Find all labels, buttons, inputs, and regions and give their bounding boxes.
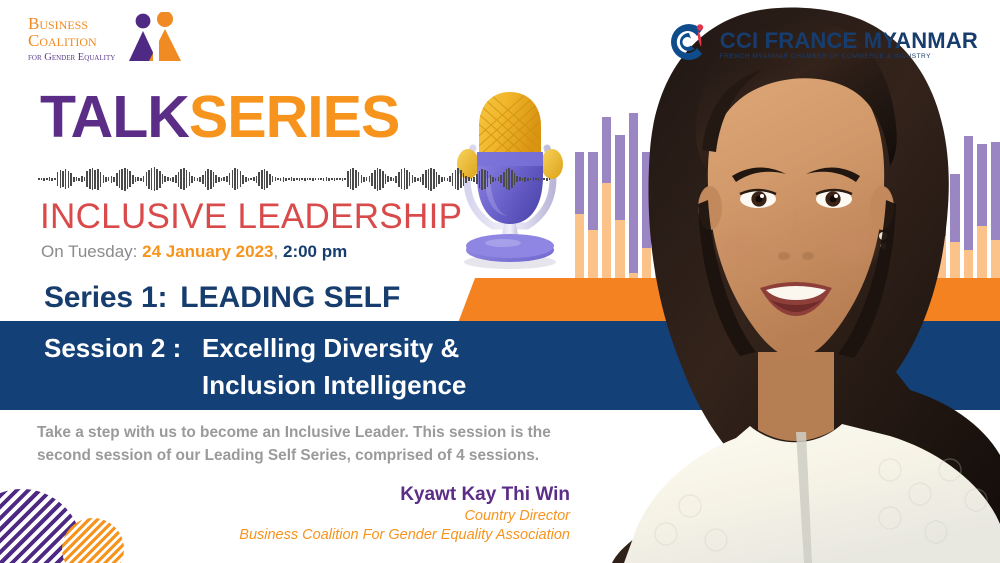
waveform-bar — [299, 178, 301, 181]
waveform-bar — [535, 178, 537, 180]
cci-france-myanmar-logo: CCI FRANCE MYANMAR FRENCH MYANMAR CHAMBE… — [667, 22, 978, 67]
waveform-bar — [223, 177, 225, 181]
waveform-bar — [100, 172, 102, 187]
waveform-bar — [538, 178, 540, 181]
waveform-bar — [366, 177, 368, 181]
waveform-bar — [377, 168, 379, 191]
waveform-bar — [301, 178, 303, 180]
audio-waveform-icon — [38, 163, 434, 195]
waveform-bar — [382, 171, 384, 188]
waveform-bar — [111, 176, 113, 183]
session-label: Session 2 : — [44, 330, 202, 367]
speaker-portrait-photo — [590, 0, 1000, 563]
waveform-bar — [54, 178, 56, 180]
waveform-bar — [62, 171, 64, 187]
waveform-bar — [524, 177, 526, 182]
waveform-bar — [385, 174, 387, 184]
waveform-bar — [304, 178, 306, 181]
waveform-bar — [355, 170, 357, 188]
waveform-bar — [78, 178, 80, 181]
waveform-bar — [119, 170, 121, 188]
waveform-bar — [334, 178, 336, 181]
waveform-bar — [320, 178, 322, 180]
waveform-bar — [57, 172, 59, 186]
waveform-bar — [132, 175, 134, 184]
waveform-bar — [455, 170, 457, 189]
waveform-bar — [234, 168, 236, 190]
waveform-bar — [121, 169, 123, 190]
waveform-bar — [164, 176, 166, 182]
title-series: SERIES — [189, 84, 399, 150]
waveform-bar — [277, 178, 279, 180]
speaker-name: Kyawt Kay Thi Win — [150, 483, 570, 507]
waveform-bar — [546, 178, 548, 181]
waveform-bar — [250, 178, 252, 180]
waveform-bar — [441, 177, 443, 182]
waveform-bar — [226, 176, 228, 182]
waveform-bar — [530, 178, 532, 180]
waveform-bar — [541, 178, 543, 180]
speaker-role: Country Director — [150, 507, 570, 526]
waveform-bar — [309, 178, 311, 180]
waveform-bar — [465, 176, 467, 183]
waveform-bar — [425, 170, 427, 188]
waveform-bar — [444, 177, 446, 181]
waveform-bar — [140, 178, 142, 181]
waveform-bar — [105, 177, 107, 182]
waveform-bar — [288, 178, 290, 180]
waveform-bar — [511, 170, 513, 188]
waveform-bar — [533, 177, 535, 181]
session-title-line1: Excelling Diversity & — [202, 333, 459, 363]
waveform-bar — [417, 178, 419, 181]
cci-logo-text: CCI FRANCE MYANMAR FRENCH MYANMAR CHAMBE… — [720, 29, 978, 61]
waveform-bar — [406, 170, 408, 189]
waveform-bar — [476, 174, 478, 184]
waveform-bar — [86, 171, 88, 187]
waveform-bar — [199, 177, 201, 182]
waveform-bar — [154, 167, 156, 191]
waveform-bar — [49, 177, 51, 181]
waveform-bar — [404, 168, 406, 190]
waveform-bar — [116, 173, 118, 186]
waveform-bar — [84, 177, 86, 181]
waveform-bar — [94, 170, 96, 189]
waveform-bar — [414, 177, 416, 182]
waveform-bar — [248, 178, 250, 181]
waveform-bar — [240, 171, 242, 187]
waveform-bar — [245, 177, 247, 182]
waveform-bar — [46, 178, 48, 180]
waveform-bar — [137, 177, 139, 181]
waveform-bar — [412, 175, 414, 183]
waveform-bar — [65, 169, 67, 189]
waveform-bar — [490, 175, 492, 184]
waveform-bar — [159, 171, 161, 188]
subtitle: INCLUSIVE LEADERSHIP — [40, 196, 462, 238]
waveform-bar — [189, 172, 191, 186]
waveform-bar — [363, 177, 365, 182]
waveform-bar — [401, 169, 403, 189]
waveform-bar — [213, 172, 215, 187]
waveform-bar — [170, 178, 172, 181]
waveform-bar — [323, 178, 325, 181]
waveform-bar — [285, 178, 287, 181]
waveform-bar — [178, 172, 180, 187]
waveform-bar — [205, 171, 207, 187]
waveform-bar — [350, 169, 352, 189]
waveform-bar — [237, 169, 239, 189]
waveform-bar — [291, 177, 293, 181]
cci-logo-sub-text: FRENCH MYANMAR CHAMBER OF COMMERCE & IND… — [720, 52, 978, 61]
waveform-bar — [387, 176, 389, 182]
page-title: TALKSERIES — [40, 88, 399, 147]
waveform-bar — [269, 174, 271, 185]
waveform-bar — [374, 170, 376, 189]
cci-logo-main-text: CCI FRANCE MYANMAR — [720, 29, 978, 52]
waveform-bar — [73, 177, 75, 182]
waveform-bar — [484, 170, 486, 189]
waveform-bar — [215, 175, 217, 183]
waveform-bar — [395, 176, 397, 183]
waveform-bar — [175, 175, 177, 183]
waveform-bar — [503, 172, 505, 187]
waveform-bar — [328, 178, 330, 181]
waveform-bar — [428, 169, 430, 190]
waveform-bar — [253, 177, 255, 181]
waveform-bar — [296, 178, 298, 180]
waveform-bar — [452, 173, 454, 186]
series-heading: Series 1:LEADING SELF — [44, 279, 400, 317]
waveform-bar — [527, 178, 529, 181]
waveform-bar — [51, 178, 53, 181]
waveform-bar — [393, 178, 395, 181]
waveform-bar — [449, 176, 451, 182]
waveform-bar — [229, 173, 231, 185]
waveform-bar — [342, 178, 344, 181]
waveform-bar — [68, 171, 70, 188]
waveform-bar — [264, 169, 266, 190]
waveform-bar — [347, 171, 349, 187]
speaker-credit: Kyawt Kay Thi Win Country Director Busin… — [150, 483, 570, 545]
session-description: Take a step with us to become an Inclusi… — [37, 421, 597, 467]
datetime-prefix: On Tuesday: — [41, 242, 137, 261]
waveform-bar — [207, 169, 209, 190]
waveform-bar — [495, 178, 497, 181]
waveform-bar — [339, 178, 341, 180]
waveform-bar — [232, 170, 234, 188]
datetime-time: 2:00 pm — [283, 242, 347, 261]
waveform-bar — [436, 172, 438, 187]
waveform-bar — [180, 169, 182, 189]
waveform-bar — [522, 178, 524, 181]
waveform-bar — [409, 172, 411, 186]
waveform-bar — [471, 178, 473, 181]
waveform-bar — [326, 177, 328, 181]
waveform-bar — [293, 178, 295, 181]
event-datetime: On Tuesday: 24 January 2023, 2:00 pm — [41, 241, 347, 263]
waveform-bar — [191, 176, 193, 183]
waveform-bar — [103, 175, 105, 183]
waveform-bar — [156, 169, 158, 190]
waveform-bar — [468, 177, 470, 181]
waveform-bar — [258, 172, 260, 186]
session-title: Excelling Diversity &Inclusion Intellige… — [202, 330, 466, 404]
waveform-bar — [151, 168, 153, 190]
waveform-bar — [183, 168, 185, 190]
waveform-bar — [221, 178, 223, 181]
session-title-line2: Inclusion Intelligence — [202, 367, 466, 404]
waveform-bar — [202, 175, 204, 184]
waveform-bar — [506, 169, 508, 189]
datetime-separator: , — [274, 242, 279, 261]
waveform-bar — [463, 173, 465, 186]
waveform-bar — [113, 177, 115, 182]
waveform-bar — [307, 178, 309, 180]
waveform-bar — [369, 176, 371, 182]
talk-series-poster: Business Coalition for Gender Equality — [0, 0, 1000, 563]
waveform-bar — [41, 178, 43, 180]
waveform-bar — [43, 178, 45, 181]
waveform-bar — [272, 176, 274, 182]
series-label: Series 1: — [44, 281, 167, 314]
waveform-bar — [479, 171, 481, 188]
waveform-bar — [143, 176, 145, 182]
waveform-bar — [420, 177, 422, 182]
waveform-bar — [108, 177, 110, 181]
waveform-bar — [256, 176, 258, 183]
cci-monogram-icon — [667, 22, 711, 67]
series-title: LEADING SELF — [180, 281, 400, 314]
waveform-bar — [97, 169, 99, 190]
datetime-date: 24 January 2023 — [142, 242, 273, 261]
business-coalition-logo: Business Coalition for Gender Equality — [28, 12, 188, 70]
waveform-bar — [318, 178, 320, 180]
waveform-bar — [127, 169, 129, 189]
waveform-bar — [76, 177, 78, 181]
waveform-bar — [549, 178, 551, 180]
waveform-bar — [430, 168, 432, 191]
waveform-bar — [447, 178, 449, 181]
waveform-bar — [500, 175, 502, 183]
waveform-bar — [438, 175, 440, 184]
waveform-bar — [172, 177, 174, 182]
waveform-bar — [433, 169, 435, 189]
waveform-bar — [280, 178, 282, 181]
waveform-bar — [60, 170, 62, 188]
waveform-bar — [38, 178, 40, 180]
title-talk: TALK — [40, 84, 189, 150]
waveform-bar — [194, 177, 196, 181]
waveform-bar — [218, 177, 220, 182]
waveform-bar — [492, 177, 494, 182]
waveform-bar — [283, 177, 285, 182]
waveform-bar — [361, 175, 363, 183]
waveform-bar — [516, 176, 518, 182]
waveform-bar — [210, 170, 212, 189]
waveform-bar — [481, 169, 483, 190]
waveform-bar — [487, 171, 489, 187]
waveform-bar — [148, 170, 150, 189]
waveform-bar — [519, 177, 521, 181]
waveform-bar — [89, 169, 91, 189]
waveform-bar — [398, 172, 400, 187]
waveform-bar — [186, 170, 188, 188]
session-heading: Session 2 :Excelling Diversity &Inclusio… — [44, 330, 466, 404]
waveform-bar — [508, 168, 510, 190]
waveform-bar — [92, 168, 94, 190]
waveform-bar — [422, 174, 424, 185]
waveform-bar — [514, 173, 516, 185]
waveform-bar — [336, 178, 338, 180]
waveform-bar — [543, 178, 545, 180]
waveform-bar — [312, 178, 314, 181]
waveform-bar — [371, 173, 373, 186]
waveform-bar — [146, 172, 148, 186]
waveform-bar — [266, 171, 268, 188]
waveform-bar — [344, 178, 346, 180]
waveform-bar — [197, 178, 199, 181]
waveform-bar — [162, 174, 164, 184]
speaker-organization: Business Coalition For Gender Equality A… — [150, 526, 570, 545]
waveform-bar — [358, 172, 360, 186]
waveform-bar — [352, 168, 354, 190]
waveform-bar — [315, 178, 317, 180]
waveform-bar — [498, 177, 500, 181]
waveform-bar — [261, 170, 263, 189]
waveform-bar — [460, 170, 462, 188]
waveform-bar — [242, 175, 244, 184]
waveform-bar — [129, 171, 131, 187]
waveform-bar — [473, 177, 475, 182]
waveform-bar — [379, 169, 381, 190]
two-people-figures-icon — [126, 12, 184, 67]
waveform-bar — [81, 176, 83, 182]
waveform-bar — [390, 177, 392, 181]
waveform-bar — [457, 168, 459, 190]
waveform-bar — [275, 177, 277, 181]
waveform-bar — [167, 177, 169, 181]
waveform-bar — [70, 173, 72, 186]
waveform-bar — [331, 178, 333, 180]
waveform-bar — [135, 177, 137, 182]
waveform-bar — [124, 168, 126, 191]
